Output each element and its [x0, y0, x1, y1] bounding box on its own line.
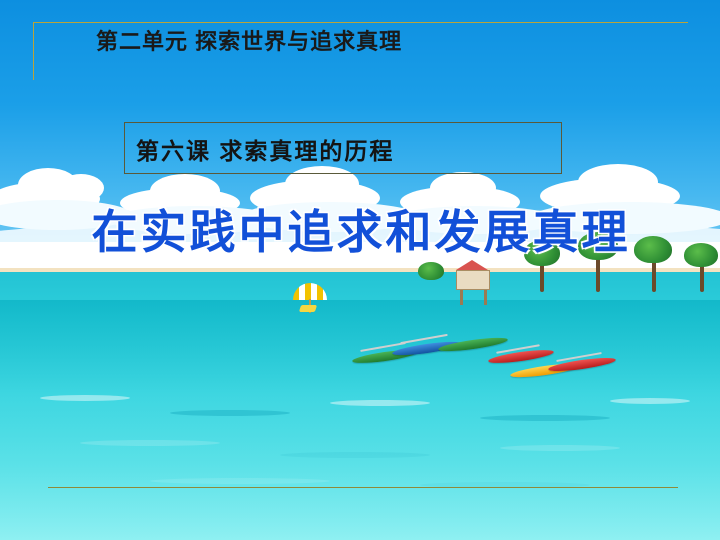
beach-chair	[299, 305, 317, 312]
presentation-slide: 第二单元 探索世界与追求真理 第六课 求索真理的历程 在实践中追求和发展真理	[0, 0, 720, 540]
main-title: 在实践中追求和发展真理	[36, 196, 686, 262]
bottom-decorative-rule	[48, 487, 678, 488]
unit-title: 第二单元 探索世界与追求真理	[96, 24, 402, 56]
frame-left-vline	[33, 22, 34, 80]
lesson-title: 第六课 求索真理的历程	[136, 132, 394, 166]
sea-deep-gradient	[0, 300, 720, 540]
